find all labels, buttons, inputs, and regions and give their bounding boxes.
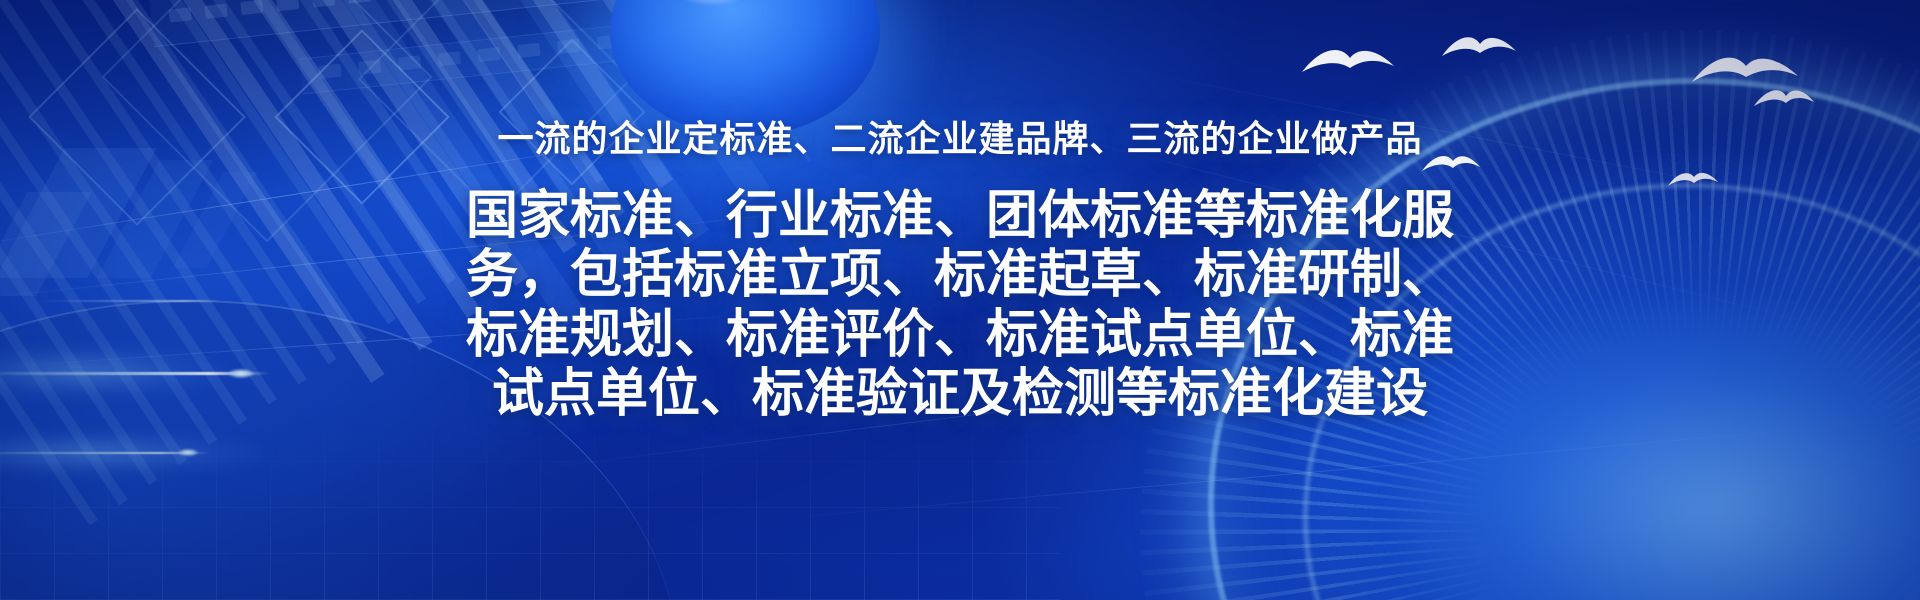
banner-text-block: 一流的企业定标准、二流企业建品牌、三流的企业做产品 国家标准、行业标准、团体标准… — [0, 0, 1920, 424]
banner-headline: 一流的企业定标准、二流企业建品牌、三流的企业做产品 — [0, 0, 1920, 161]
promotional-banner: 一流的企业定标准、二流企业建品牌、三流的企业做产品 国家标准、行业标准、团体标准… — [0, 0, 1920, 600]
banner-body-line: 务，包括标准立项、标准起草、标准研制、 — [445, 246, 1475, 305]
banner-body-line: 试点单位、标准验证及检测等标准化建设 — [445, 365, 1475, 424]
banner-body-line: 标准规划、标准评价、标准试点单位、标准 — [445, 306, 1475, 365]
banner-body-text: 国家标准、行业标准、团体标准等标准化服 务，包括标准立项、标准起草、标准研制、 … — [445, 187, 1475, 424]
banner-body-line: 国家标准、行业标准、团体标准等标准化服 — [445, 187, 1475, 246]
